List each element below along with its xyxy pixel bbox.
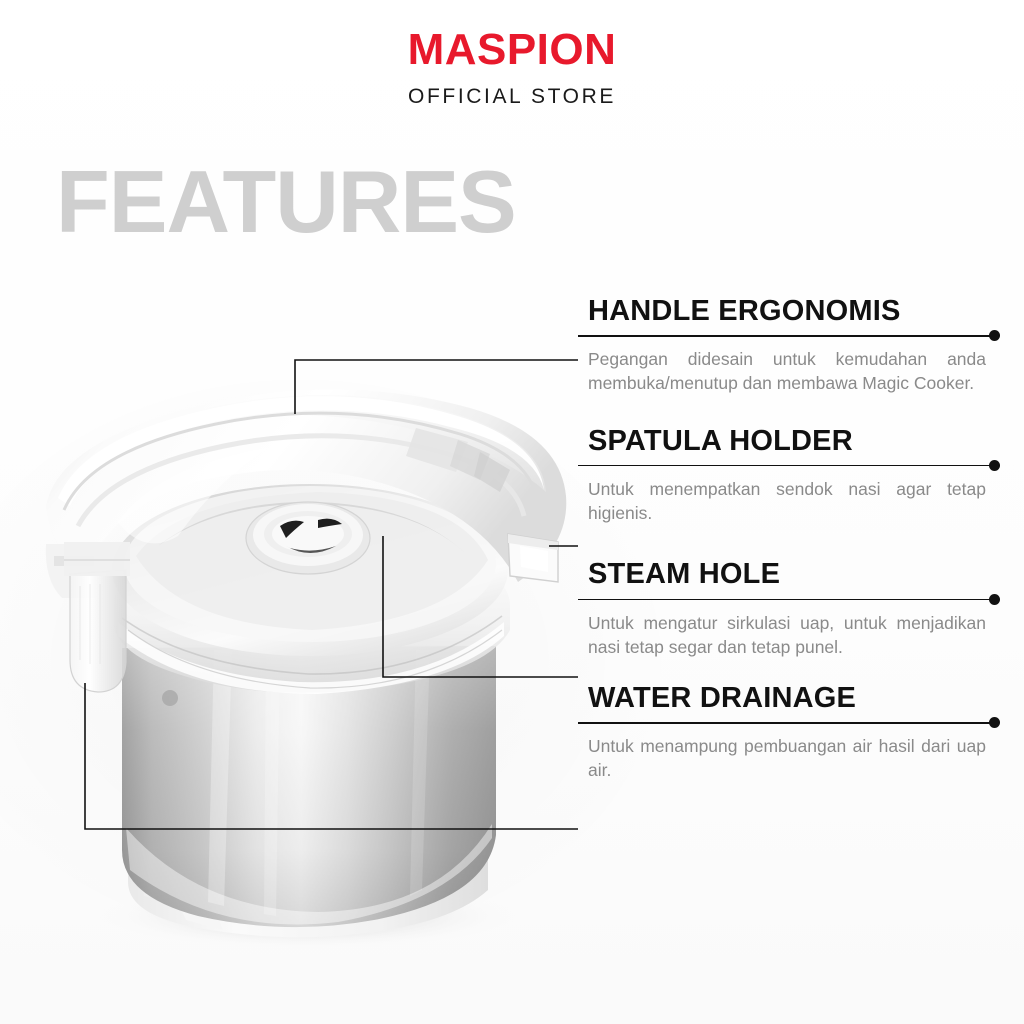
feature-list: HANDLE ERGONOMIS Pegangan didesain untuk… bbox=[578, 296, 998, 782]
feature-title-handle-ergonomis: HANDLE ERGONOMIS bbox=[578, 296, 998, 327]
page-title: FEATURES bbox=[56, 158, 516, 246]
feature-title-spatula-holder: SPATULA HOLDER bbox=[578, 426, 998, 457]
brand-header: MASPION OFFICIAL STORE bbox=[0, 28, 1024, 107]
rule-line bbox=[578, 722, 995, 724]
brand-logo-maspion: MASPION bbox=[0, 28, 1024, 72]
feature-description-spatula-holder: Untuk menempatkan sendok nasi agar tetap… bbox=[578, 477, 998, 525]
feature-title-water-drainage: WATER DRAINAGE bbox=[578, 683, 998, 714]
feature-description-steam-hole: Untuk mengatur sirkulasi uap, untuk menj… bbox=[578, 611, 998, 659]
feature-water-drainage: WATER DRAINAGE Untuk menampung pembuanga… bbox=[578, 683, 998, 783]
feature-rule-spatula-holder bbox=[578, 460, 998, 472]
feature-description-water-drainage: Untuk menampung pembuangan air hasil dar… bbox=[578, 734, 998, 782]
feature-steam-hole: STEAM HOLE Untuk mengatur sirkulasi uap,… bbox=[578, 559, 998, 659]
feature-rule-water-drainage bbox=[578, 717, 998, 729]
brand-subtitle-official-store: OFFICIAL STORE bbox=[0, 86, 1024, 107]
feature-description-handle-ergonomis: Pegangan didesain untuk kemudahan anda m… bbox=[578, 347, 998, 395]
rule-line bbox=[578, 335, 995, 337]
feature-handle-ergonomis: HANDLE ERGONOMIS Pegangan didesain untuk… bbox=[578, 296, 998, 396]
product-image-magic-cooker bbox=[18, 330, 598, 960]
rule-end-dot bbox=[989, 460, 1000, 471]
rule-end-dot bbox=[989, 594, 1000, 605]
feature-rule-handle-ergonomis bbox=[578, 330, 998, 342]
feature-spatula-holder: SPATULA HOLDER Untuk menempatkan sendok … bbox=[578, 426, 998, 526]
feature-rule-steam-hole bbox=[578, 594, 998, 606]
feature-title-steam-hole: STEAM HOLE bbox=[578, 559, 998, 590]
rule-line bbox=[578, 465, 995, 467]
rule-line bbox=[578, 599, 995, 601]
